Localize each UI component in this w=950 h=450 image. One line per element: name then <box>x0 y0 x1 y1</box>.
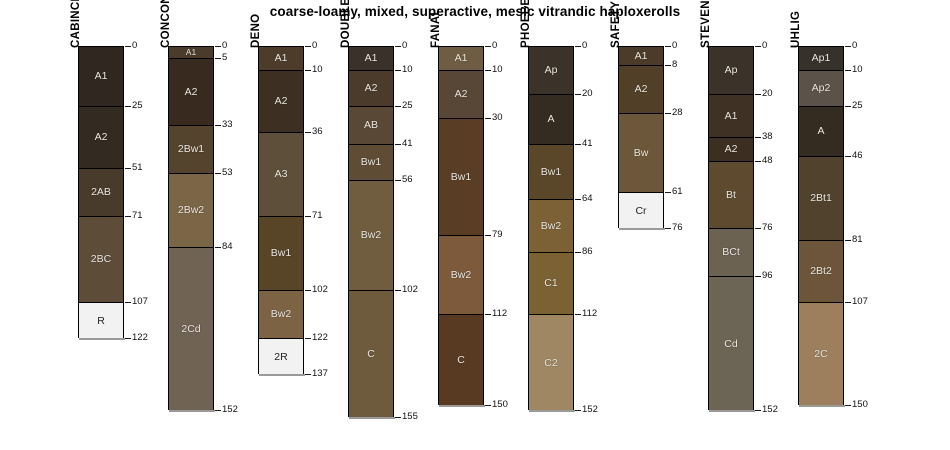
horizon-label: C <box>457 355 465 366</box>
depth-tick-label: 33 <box>222 120 233 130</box>
depth-tick-label: 41 <box>402 139 413 149</box>
depth-tick-label: 122 <box>312 333 328 343</box>
depth-tick-label: 96 <box>762 271 773 281</box>
horizon-label: A3 <box>275 169 288 180</box>
horizon-label: Bw2 <box>451 270 471 281</box>
soil-horizon: 2C <box>799 303 843 406</box>
horizon-label: A2 <box>185 87 198 98</box>
depth-tick <box>575 144 581 145</box>
horizon-label: Bw1 <box>271 248 291 259</box>
depth-tick <box>125 46 131 47</box>
depth-tick-label: 56 <box>402 175 413 185</box>
horizon-label: A1 <box>186 48 196 57</box>
depth-tick-label: 76 <box>672 223 683 233</box>
depth-tick <box>395 290 401 291</box>
horizon-label: Cr <box>635 206 646 217</box>
soil-horizon: A2 <box>79 107 123 169</box>
horizon-label: 2Bt2 <box>810 266 832 277</box>
soil-horizon: A3 <box>259 133 303 217</box>
depth-tick <box>665 113 671 114</box>
depth-tick <box>755 276 761 277</box>
soil-horizon: 2BC <box>79 217 123 303</box>
depth-tick-label: 0 <box>312 41 317 51</box>
depth-tick <box>845 156 851 157</box>
horizon-label: C1 <box>544 278 557 289</box>
depth-tick <box>215 125 221 126</box>
soil-horizon: A <box>529 95 573 145</box>
soil-horizon: Ap2 <box>799 71 843 107</box>
depth-tick-label: 36 <box>312 127 323 137</box>
soil-horizon: Ap <box>709 47 753 95</box>
depth-tick-label: 102 <box>402 285 418 295</box>
depth-tick-label: 53 <box>222 168 233 178</box>
depth-tick-label: 107 <box>852 297 868 307</box>
depth-tick <box>305 216 311 217</box>
column-base-shadow <box>349 417 395 419</box>
soil-horizon: C2 <box>529 315 573 411</box>
depth-tick <box>845 106 851 107</box>
column-base-shadow <box>259 374 305 376</box>
depth-tick-label: 25 <box>132 101 143 111</box>
soil-horizon: Ap <box>529 47 573 95</box>
depth-tick-label: 28 <box>672 108 683 118</box>
soil-horizon: A2 <box>709 138 753 162</box>
soil-horizon: C <box>349 291 393 418</box>
soil-horizon: A2 <box>349 71 393 107</box>
depth-tick-label: 112 <box>492 309 507 319</box>
depth-tick <box>395 70 401 71</box>
soil-horizon: Bt <box>709 162 753 229</box>
column-base-shadow <box>709 410 755 412</box>
horizon-label: Bw1 <box>361 157 381 168</box>
horizon-label: A1 <box>95 71 108 82</box>
depth-tick-label: 79 <box>492 230 503 240</box>
depth-tick-label: 0 <box>222 41 227 51</box>
soil-horizon: Bw2 <box>259 291 303 339</box>
soil-horizon: A1 <box>79 47 123 107</box>
horizon-label: A2 <box>95 132 108 143</box>
column-base-shadow <box>79 338 125 340</box>
profile-column: A1A2Bw1Bw2C <box>438 46 484 405</box>
horizon-label: 2R <box>274 352 287 363</box>
depth-tick <box>395 417 401 418</box>
horizon-label: Bw <box>634 148 649 159</box>
depth-tick <box>755 46 761 47</box>
soil-horizon: 2Cd <box>169 248 213 411</box>
profile-column: A1A2ABBw1Bw2C <box>348 46 394 417</box>
depth-tick <box>845 302 851 303</box>
soil-horizon: Ap1 <box>799 47 843 71</box>
soil-horizon: 2Bt2 <box>799 241 843 303</box>
depth-tick-label: 152 <box>762 405 778 415</box>
horizon-label: 2Bw1 <box>178 144 204 155</box>
horizon-label: 2Bw2 <box>178 205 204 216</box>
depth-tick <box>575 314 581 315</box>
soil-horizon: Bw2 <box>529 200 573 253</box>
soil-horizon: A2 <box>439 71 483 119</box>
horizon-label: A1 <box>275 53 288 64</box>
soil-horizon: A1 <box>259 47 303 71</box>
depth-tick-label: 20 <box>582 89 593 99</box>
depth-tick <box>125 168 131 169</box>
depth-tick <box>575 46 581 47</box>
depth-tick-label: 71 <box>312 211 323 221</box>
soil-horizon: A2 <box>259 71 303 133</box>
horizon-label: 2Bt1 <box>810 193 832 204</box>
depth-tick-label: 25 <box>402 101 413 111</box>
depth-tick <box>305 70 311 71</box>
soil-horizon: A2 <box>619 66 663 114</box>
horizon-label: C2 <box>544 358 557 369</box>
depth-tick-label: 0 <box>132 41 137 51</box>
profile-column: A1A22AB2BCR <box>78 46 124 338</box>
profile-site-label: PHOEBE <box>520 0 532 48</box>
depth-tick-label: 155 <box>402 412 418 422</box>
profile-site-label: SAFETY <box>610 1 622 48</box>
depth-tick-label: 8 <box>672 60 677 70</box>
soil-horizon: A1 <box>709 95 753 138</box>
depth-tick-label: 86 <box>582 247 593 257</box>
depth-tick-label: 137 <box>312 369 328 379</box>
depth-tick-label: 10 <box>402 65 413 75</box>
depth-tick <box>305 46 311 47</box>
depth-tick-label: 25 <box>852 101 863 111</box>
depth-tick <box>485 405 491 406</box>
depth-tick <box>755 228 761 229</box>
depth-tick <box>485 70 491 71</box>
depth-tick-label: 10 <box>492 65 503 75</box>
column-base-shadow <box>529 410 575 412</box>
depth-tick-label: 0 <box>852 41 857 51</box>
column-base-shadow <box>799 405 845 407</box>
depth-tick-label: 0 <box>762 41 767 51</box>
soil-horizon: 2AB <box>79 169 123 217</box>
depth-tick <box>665 192 671 193</box>
depth-tick <box>485 46 491 47</box>
column-base-shadow <box>439 405 485 407</box>
depth-tick-label: 0 <box>672 41 677 51</box>
depth-tick-label: 150 <box>492 400 508 410</box>
depth-tick <box>845 240 851 241</box>
depth-tick <box>215 173 221 174</box>
depth-tick-label: 38 <box>762 132 773 142</box>
depth-tick <box>575 94 581 95</box>
depth-tick <box>755 410 761 411</box>
horizon-label: A1 <box>635 51 648 62</box>
horizon-label: Bt <box>726 190 736 201</box>
depth-tick-label: 107 <box>132 297 148 307</box>
horizon-label: A2 <box>365 83 378 94</box>
profile-site-label: DENO <box>250 14 262 48</box>
horizon-label: A <box>547 114 554 125</box>
soil-horizon: BCt <box>709 229 753 277</box>
horizon-label: R <box>97 316 105 327</box>
depth-tick <box>125 338 131 339</box>
horizon-label: Ap <box>725 65 738 76</box>
horizon-label: A2 <box>275 96 288 107</box>
horizon-label: Bw2 <box>541 221 561 232</box>
depth-tick-label: 122 <box>132 333 148 343</box>
profile-site-label: CONCONULLY <box>160 0 172 48</box>
profile-column: A1A2A3Bw1Bw22R <box>258 46 304 374</box>
soil-horizon: 2Bt1 <box>799 157 843 241</box>
depth-tick-label: 64 <box>582 194 593 204</box>
depth-tick-label: 76 <box>762 223 773 233</box>
depth-tick <box>215 58 221 59</box>
depth-tick-label: 10 <box>312 65 323 75</box>
depth-tick-label: 102 <box>312 285 328 295</box>
horizon-label: AB <box>364 120 378 131</box>
horizon-label: Bw1 <box>541 167 561 178</box>
horizon-label: C <box>367 349 375 360</box>
depth-tick-label: 84 <box>222 242 233 252</box>
depth-tick <box>125 216 131 217</box>
column-base-shadow <box>619 228 665 230</box>
depth-tick <box>395 46 401 47</box>
profile-column: Ap1Ap2A2Bt12Bt22C <box>798 46 844 405</box>
profile-site-label: CABINCREEK <box>70 0 82 48</box>
soil-horizon: 2Bw1 <box>169 126 213 174</box>
horizon-label: Bw2 <box>271 309 291 320</box>
soil-horizon: R <box>79 303 123 339</box>
soil-horizon: C <box>439 315 483 406</box>
depth-tick <box>395 180 401 181</box>
depth-tick <box>305 338 311 339</box>
depth-tick <box>395 144 401 145</box>
depth-tick-label: 152 <box>222 405 238 415</box>
horizon-label: Ap1 <box>812 53 831 64</box>
depth-tick <box>485 314 491 315</box>
depth-tick <box>215 410 221 411</box>
horizon-label: Cd <box>724 339 737 350</box>
depth-tick-label: 20 <box>762 89 773 99</box>
soil-horizon: A1 <box>439 47 483 71</box>
soil-horizon: Cr <box>619 193 663 229</box>
horizon-label: A1 <box>725 111 738 122</box>
soil-horizon: Bw1 <box>439 119 483 236</box>
profile-site-label: FANAL <box>430 8 442 48</box>
depth-tick-label: 71 <box>132 211 143 221</box>
depth-tick-label: 112 <box>582 309 597 319</box>
depth-tick <box>305 290 311 291</box>
horizon-label: 2AB <box>91 187 111 198</box>
depth-tick-label: 51 <box>132 163 143 173</box>
depth-tick <box>125 302 131 303</box>
soil-horizon: Cd <box>709 277 753 411</box>
horizon-label: Bw2 <box>361 230 381 241</box>
profile-site-label: STEVENS <box>700 0 712 48</box>
depth-tick <box>305 132 311 133</box>
depth-tick-label: 0 <box>402 41 407 51</box>
horizon-label: Ap2 <box>812 83 831 94</box>
depth-tick <box>755 161 761 162</box>
horizon-label: A1 <box>365 53 378 64</box>
profile-site-label: UHLIG <box>790 11 802 48</box>
depth-tick-label: 61 <box>672 187 683 197</box>
depth-tick <box>665 228 671 229</box>
horizon-label: BCt <box>722 247 740 258</box>
soil-horizon: A <box>799 107 843 157</box>
depth-tick-label: 48 <box>762 156 773 166</box>
profile-column: ApA1A2BtBCtCd <box>708 46 754 410</box>
depth-tick-label: 81 <box>852 235 863 245</box>
profile-column: A1A2BwCr <box>618 46 664 228</box>
depth-tick-label: 41 <box>582 139 593 149</box>
soil-horizon: Bw1 <box>349 145 393 181</box>
depth-tick <box>755 137 761 138</box>
soil-horizon: Bw1 <box>529 145 573 200</box>
soil-horizon: 2Bw2 <box>169 174 213 248</box>
soil-horizon: Bw2 <box>349 181 393 291</box>
horizon-label: 2Cd <box>181 324 200 335</box>
depth-tick <box>485 235 491 236</box>
depth-tick <box>395 106 401 107</box>
horizon-label: Ap <box>545 65 558 76</box>
depth-tick <box>845 70 851 71</box>
soil-horizon: 2R <box>259 339 303 375</box>
depth-tick <box>125 106 131 107</box>
horizon-label: 2BC <box>91 254 111 265</box>
depth-tick-label: 5 <box>222 53 227 63</box>
depth-tick-label: 150 <box>852 400 868 410</box>
soil-horizon: A1 <box>349 47 393 71</box>
depth-tick <box>215 46 221 47</box>
depth-tick-label: 152 <box>582 405 598 415</box>
horizon-label: A1 <box>455 53 468 64</box>
horizon-label: 2C <box>814 349 827 360</box>
profile-column: A1A22Bw12Bw22Cd <box>168 46 214 410</box>
soil-horizon: A2 <box>169 59 213 126</box>
column-base-shadow <box>169 410 215 412</box>
depth-tick-label: 0 <box>492 41 497 51</box>
soil-profile-chart: CABINCREEKA1A22AB2BCR0255171107122CONCON… <box>0 0 950 450</box>
depth-tick <box>755 94 761 95</box>
horizon-label: Bw1 <box>451 172 471 183</box>
soil-horizon: A1 <box>619 47 663 66</box>
depth-tick-label: 46 <box>852 151 863 161</box>
horizon-label: A <box>817 126 824 137</box>
soil-horizon: Bw2 <box>439 236 483 315</box>
depth-tick <box>665 65 671 66</box>
depth-tick <box>845 405 851 406</box>
profile-site-label: DOUBLECREEK <box>340 0 352 48</box>
depth-tick <box>215 247 221 248</box>
profile-column: ApABw1Bw2C1C2 <box>528 46 574 410</box>
depth-tick <box>575 252 581 253</box>
soil-horizon: Bw1 <box>259 217 303 291</box>
horizon-label: A2 <box>725 144 738 155</box>
depth-tick-label: 10 <box>852 65 863 75</box>
soil-horizon: AB <box>349 107 393 145</box>
soil-horizon: A1 <box>169 47 213 59</box>
depth-tick <box>485 118 491 119</box>
horizon-label: A2 <box>455 89 468 100</box>
soil-horizon: C1 <box>529 253 573 315</box>
soil-horizon: Bw <box>619 114 663 193</box>
depth-tick <box>575 199 581 200</box>
depth-tick <box>665 46 671 47</box>
depth-tick <box>845 46 851 47</box>
depth-tick <box>305 374 311 375</box>
depth-tick <box>575 410 581 411</box>
horizon-label: A2 <box>635 84 648 95</box>
depth-tick-label: 0 <box>582 41 587 51</box>
depth-tick-label: 30 <box>492 113 503 123</box>
